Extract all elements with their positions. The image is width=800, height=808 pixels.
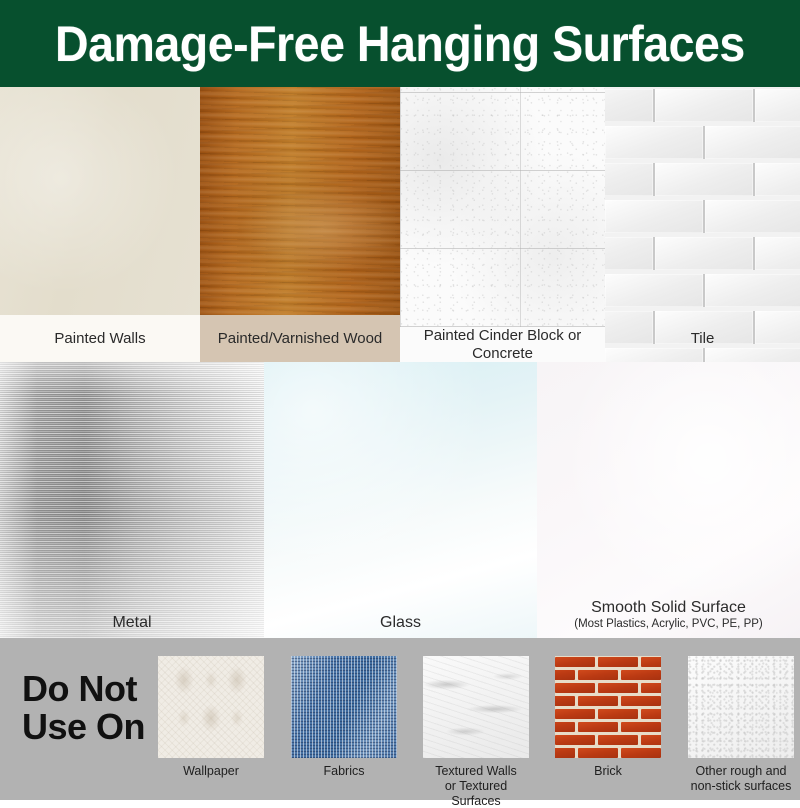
do-not-use-heading: Do Not Use On: [22, 670, 152, 746]
swatch-painted-walls: [0, 87, 200, 315]
surface-sublabel-smooth-solid-surface: (Most Plastics, Acrylic, PVC, PE, PP): [537, 618, 800, 632]
surface-label-smooth-solid-surface: Smooth Solid Surface (Most Plastics, Acr…: [537, 598, 800, 632]
surface-card-glass[interactable]: Glass: [264, 362, 537, 638]
surface-card-tile[interactable]: Tile: [605, 87, 800, 362]
thumb-caption-fabrics-line1: Fabrics: [324, 764, 365, 778]
do-not-use-thumbnails: Wallpaper Fabrics Textured Walls or Text…: [155, 656, 795, 796]
do-not-use-item-other-rough[interactable]: Other rough and non-stick surfaces: [688, 656, 794, 794]
approved-surfaces-row-2: Metal Glass Smooth Solid Surface (Most P…: [0, 362, 800, 638]
surface-label-smooth-solid-surface-main: Smooth Solid Surface: [591, 599, 746, 616]
thumb-image-other-rough: [688, 656, 794, 758]
swatch-smooth-solid-surface: [537, 362, 800, 638]
surface-card-painted-varnished-wood[interactable]: Painted/Varnished Wood: [200, 87, 400, 362]
thumb-image-wallpaper: [158, 656, 264, 758]
do-not-use-section: Do Not Use On Wallpaper Fabrics Textured…: [0, 638, 800, 800]
do-not-use-heading-line2: Use On: [22, 708, 152, 746]
thumb-caption-wallpaper-line1: Wallpaper: [183, 764, 239, 778]
surface-card-painted-cinder-block[interactable]: Painted Cinder Block or Concrete: [400, 87, 605, 362]
surface-card-smooth-solid-surface[interactable]: Smooth Solid Surface (Most Plastics, Acr…: [537, 362, 800, 638]
do-not-use-item-fabrics[interactable]: Fabrics: [291, 656, 397, 779]
thumb-caption-textured-walls-line1: Textured Walls: [423, 764, 529, 779]
swatch-painted-varnished-wood: [200, 87, 400, 315]
do-not-use-item-textured-walls[interactable]: Textured Walls or Textured Surfaces: [423, 656, 529, 808]
surface-label-glass: Glass: [264, 613, 537, 632]
thumb-caption-textured-walls-line2: or Textured Surfaces: [423, 779, 529, 808]
swatch-painted-cinder-block: [400, 87, 605, 327]
surface-label-painted-varnished-wood: Painted/Varnished Wood: [200, 315, 400, 362]
thumb-image-brick: [555, 656, 661, 758]
thumb-image-textured-walls: [423, 656, 529, 758]
surface-label-painted-cinder-block: Painted Cinder Block or Concrete: [400, 327, 605, 362]
do-not-use-heading-line1: Do Not: [22, 670, 152, 708]
thumb-caption-other-rough-line1: Other rough and: [688, 764, 794, 779]
do-not-use-item-brick[interactable]: Brick: [555, 656, 661, 779]
thumb-caption-other-rough-line2: non-stick surfaces: [688, 779, 794, 794]
thumb-caption-fabrics: Fabrics: [291, 764, 397, 779]
do-not-use-item-wallpaper[interactable]: Wallpaper: [158, 656, 264, 779]
brick-pattern: [555, 656, 661, 758]
thumb-image-fabrics: [291, 656, 397, 758]
surface-label-painted-walls: Painted Walls: [0, 315, 200, 362]
thumb-caption-wallpaper: Wallpaper: [158, 764, 264, 779]
infographic-page: Damage-Free Hanging Surfaces Painted Wal…: [0, 0, 800, 800]
surface-label-metal: Metal: [0, 613, 264, 632]
header-banner: Damage-Free Hanging Surfaces: [0, 0, 800, 87]
approved-surfaces-row-1: Painted Walls Painted/Varnished Wood Pai…: [0, 87, 800, 362]
page-title: Damage-Free Hanging Surfaces: [55, 19, 745, 69]
swatch-glass: [264, 362, 537, 638]
surface-label-tile: Tile: [605, 315, 800, 362]
surface-card-metal[interactable]: Metal: [0, 362, 264, 638]
swatch-metal: [0, 362, 264, 638]
thumb-caption-brick: Brick: [555, 764, 661, 779]
surface-card-painted-walls[interactable]: Painted Walls: [0, 87, 200, 362]
thumb-caption-other-rough: Other rough and non-stick surfaces: [688, 764, 794, 794]
thumb-caption-brick-line1: Brick: [594, 764, 622, 778]
thumb-caption-textured-walls: Textured Walls or Textured Surfaces: [423, 764, 529, 808]
